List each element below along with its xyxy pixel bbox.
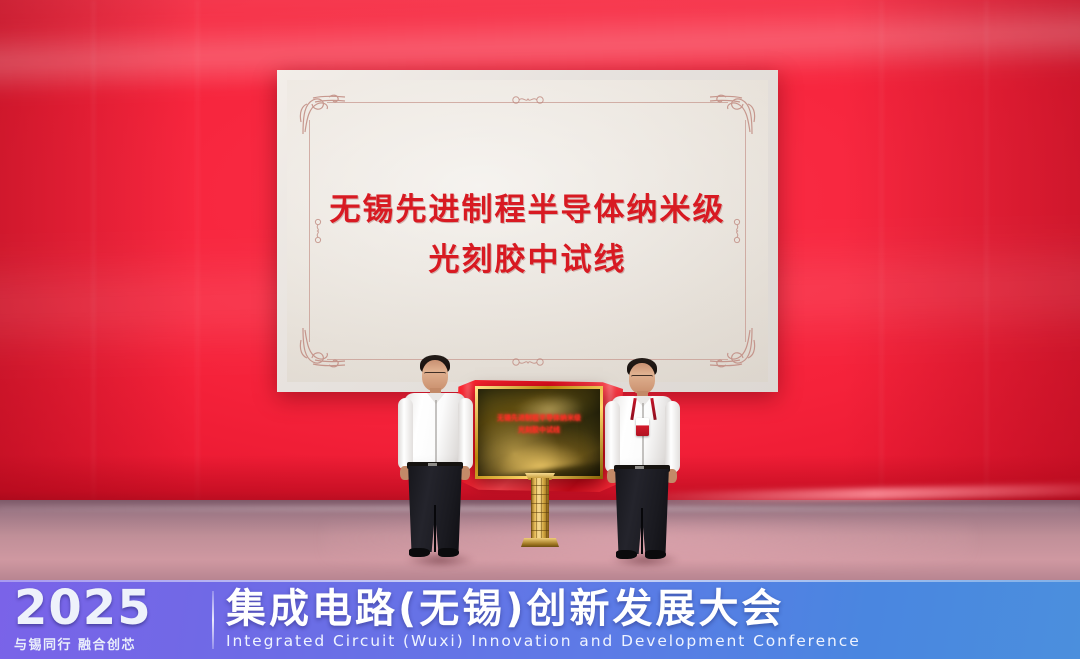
banner-year-tagline: 与锡同行 融合创芯 [14, 634, 210, 653]
conference-banner: 2025 与锡同行 融合创芯 集成电路(无锡)创新发展大会 Integrated… [0, 580, 1080, 659]
screen-title-line2: 光刻胶中试线 [287, 235, 768, 285]
trouser-seam [434, 505, 436, 552]
shoe-left [409, 548, 430, 557]
corner-flourish-icon [299, 92, 347, 136]
shirt-placket [435, 400, 437, 468]
shoe-right [438, 548, 459, 557]
banner-title-cn: 集成电路(无锡)创新发展大会 [226, 589, 1080, 630]
glasses-icon [631, 375, 653, 380]
plaque-stand-base [521, 538, 559, 547]
plaque-text: 无锡先进制程半导体纳米级 光刻胶中试线 [486, 413, 592, 437]
center-flourish-icon [506, 356, 550, 368]
bronze-plaque: 无锡先进制程半导体纳米级 光刻胶中试线 [475, 386, 603, 479]
banner-title-en: Integrated Circuit (Wuxi) Innovation and… [226, 632, 1080, 650]
stand-fretwork-pattern [531, 478, 549, 540]
glasses-icon [424, 372, 446, 377]
screen-title: 无锡先进制程半导体纳米级 光刻胶中试线 [287, 185, 768, 285]
corner-flourish-icon [708, 326, 756, 370]
center-flourish-icon [506, 94, 550, 106]
shirt-collar [436, 393, 445, 404]
banner-divider [212, 591, 214, 649]
id-badge [636, 418, 649, 436]
corner-flourish-icon [299, 326, 347, 370]
arm-left [398, 398, 413, 470]
arm-right [665, 401, 680, 473]
shoe-left [616, 550, 637, 559]
banner-year: 2025 [14, 586, 210, 630]
unveiling-plaque-assembly: 无锡先进制程半导体纳米级 光刻胶中试线 [455, 372, 625, 562]
banner-year-block: 2025 与锡同行 融合创芯 [14, 586, 210, 652]
screen-title-line1: 无锡先进制程半导体纳米级 [330, 192, 726, 228]
projection-screen-surface: 无锡先进制程半导体纳米级 光刻胶中试线 [287, 80, 768, 382]
trouser-seam [641, 508, 643, 554]
plaque-stand-column [531, 478, 549, 540]
shoe-right [645, 550, 666, 559]
plaque-text-line1: 无锡先进制程半导体纳米级 [486, 413, 592, 425]
arm-left [605, 401, 620, 473]
arm-right [458, 398, 473, 470]
stage-photo: 无锡先进制程半导体纳米级 光刻胶中试线 无锡先进制程半导体纳米级 光刻胶中试线 [0, 0, 1080, 659]
shirt-placket [642, 403, 644, 471]
projection-screen: 无锡先进制程半导体纳米级 光刻胶中试线 [277, 70, 778, 392]
corner-flourish-icon [708, 92, 756, 136]
plaque-text-line2: 光刻胶中试线 [486, 425, 592, 437]
